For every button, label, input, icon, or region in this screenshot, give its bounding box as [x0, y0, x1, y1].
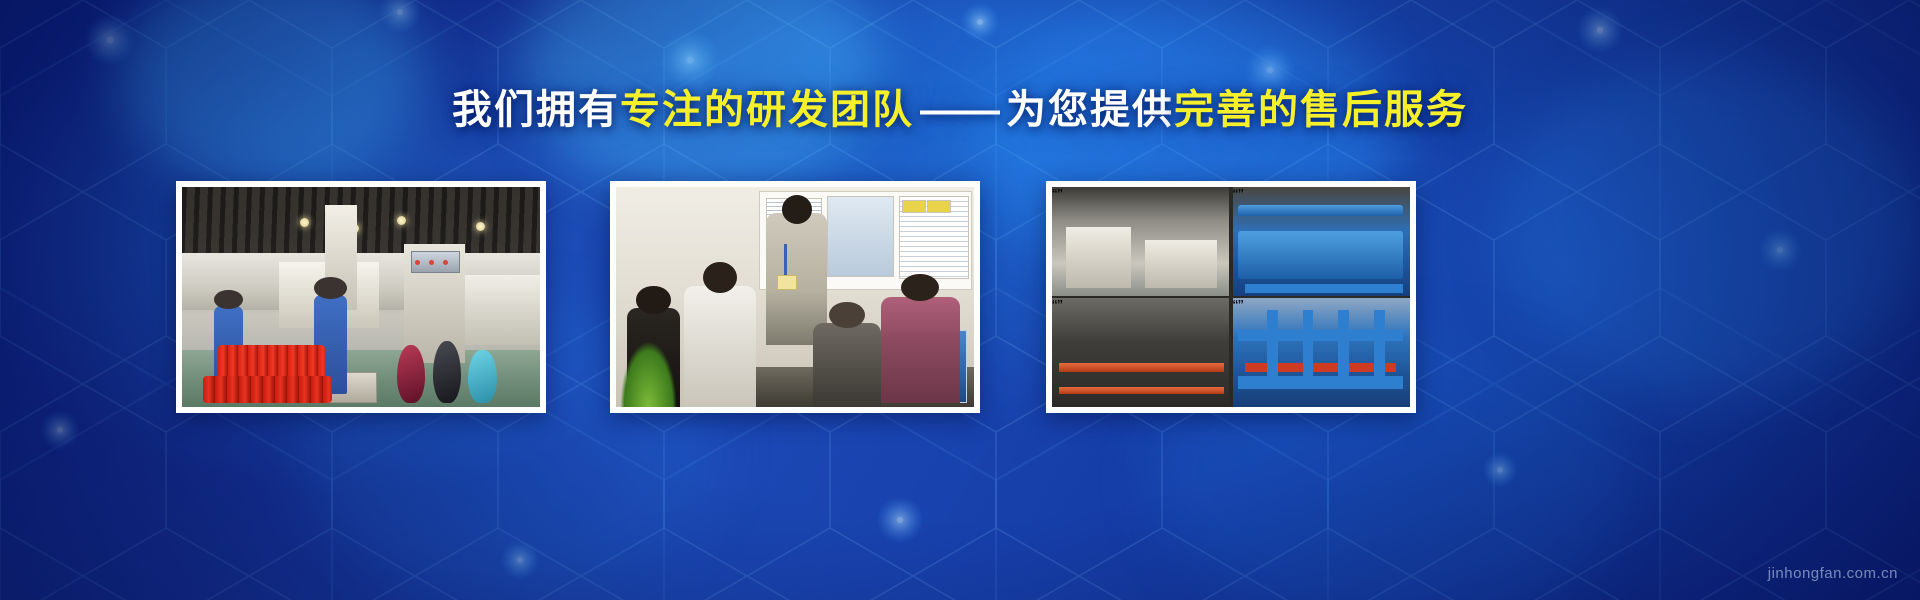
headline-segment-4-highlight: 完善的售后服务	[1174, 88, 1468, 132]
rnd-team-meeting-photo	[616, 187, 974, 407]
headline-segment-1: 我们拥有	[452, 88, 620, 132]
headline-segment-2-highlight: 专注的研发团队	[620, 88, 914, 132]
equipment-collage-photo	[1052, 187, 1410, 407]
headline-segment-3: 为您提供	[1006, 88, 1174, 132]
headline-dash: ——	[914, 88, 1006, 132]
promo-banner: 我们拥有专注的研发团队——为您提供完善的售后服务	[0, 0, 1920, 600]
equipment-collage-card[interactable]	[1046, 181, 1416, 413]
factory-production-line-photo	[182, 187, 540, 407]
photo-card-row	[0, 181, 1920, 413]
factory-production-line-card[interactable]	[176, 181, 546, 413]
page-title: 我们拥有专注的研发团队——为您提供完善的售后服务	[0, 86, 1920, 134]
site-watermark: jinhongfan.com.cn	[1768, 565, 1898, 582]
rnd-team-meeting-card[interactable]	[610, 181, 980, 413]
